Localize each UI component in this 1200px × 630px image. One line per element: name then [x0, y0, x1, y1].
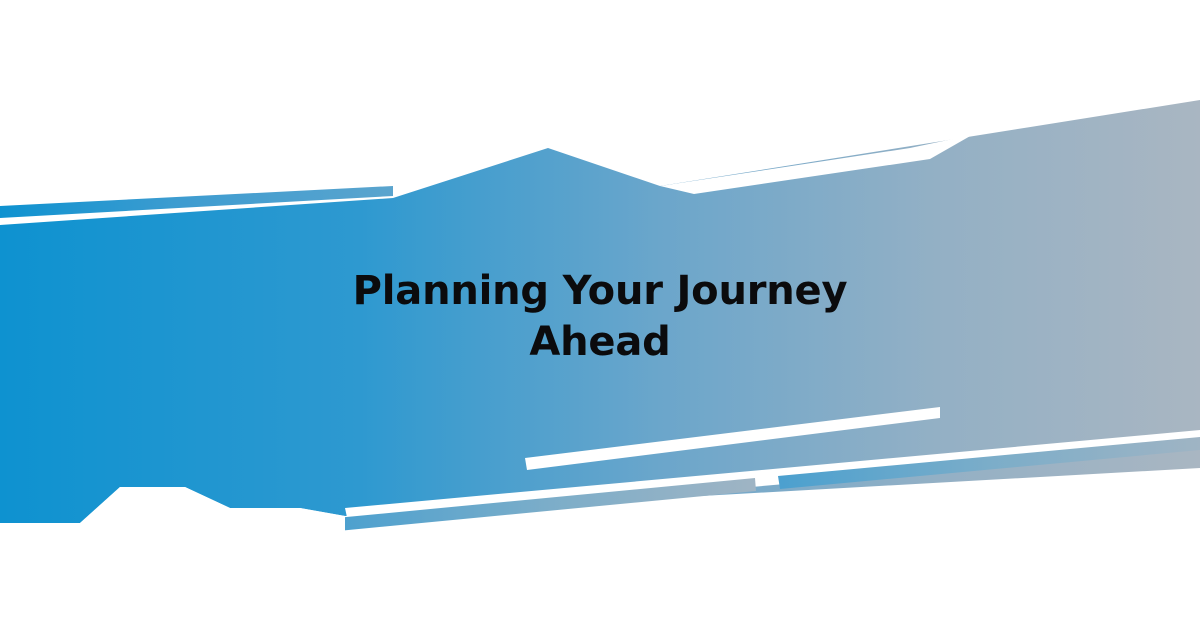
- dash-mark-1-icon: [697, 143, 708, 160]
- dash-mark-3-icon: [731, 134, 770, 156]
- dash-mark-4-icon: [776, 113, 905, 150]
- decorative-geometric-artwork: [0, 0, 1200, 630]
- banner-card: Planning Your Journey Ahead: [0, 0, 1200, 630]
- dash-mark-2-icon: [714, 141, 725, 158]
